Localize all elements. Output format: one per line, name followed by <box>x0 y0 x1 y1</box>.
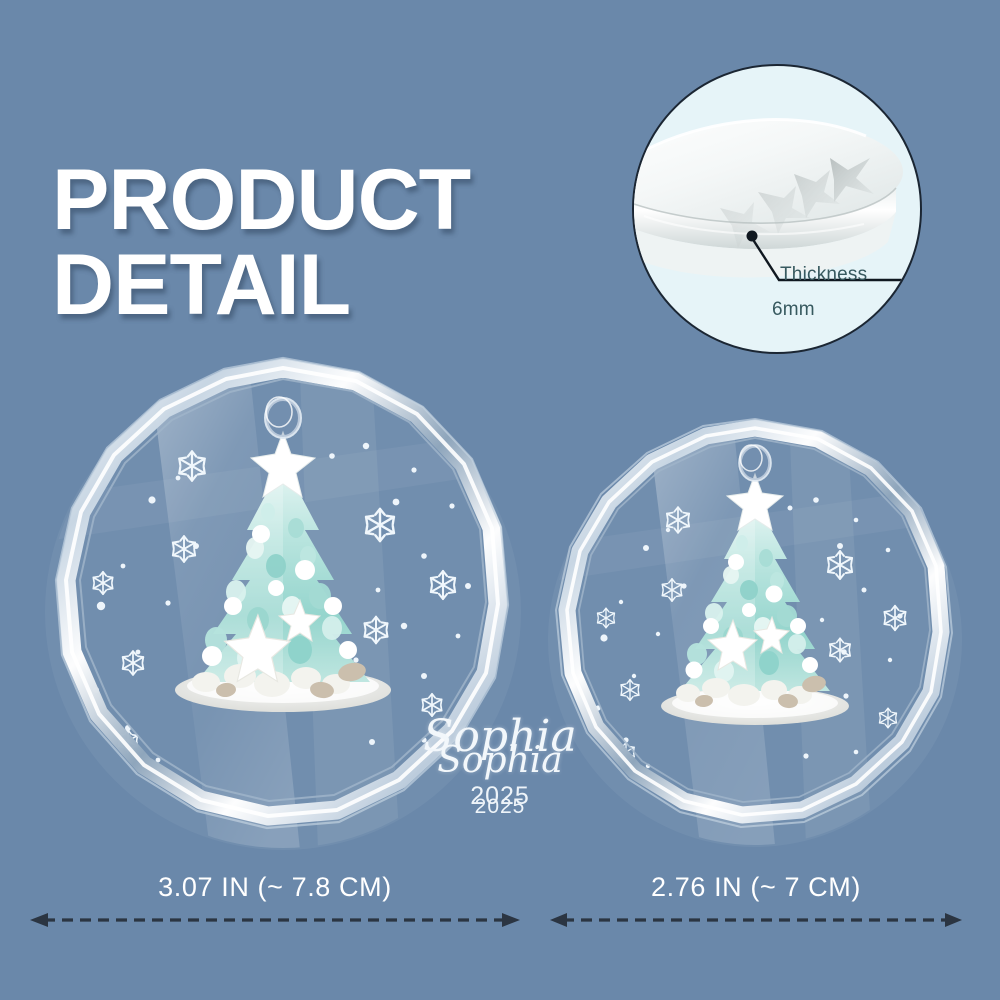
dimension-arrow-large <box>30 872 520 932</box>
ornament-name-small: Sophia <box>0 740 1000 781</box>
product-detail-image: PRODUCT DETAIL <box>0 0 1000 1000</box>
ornament-year-small: 2025 <box>0 795 1000 819</box>
hanging-hole <box>740 445 770 480</box>
dimension-large: 3.07 IN (~ 7.8 CM) <box>30 872 520 932</box>
dimension-arrow-small <box>550 872 962 932</box>
ornament-small: Sophia 2025 <box>0 0 1000 1000</box>
dimension-small: 2.76 IN (~ 7 CM) <box>550 872 962 932</box>
